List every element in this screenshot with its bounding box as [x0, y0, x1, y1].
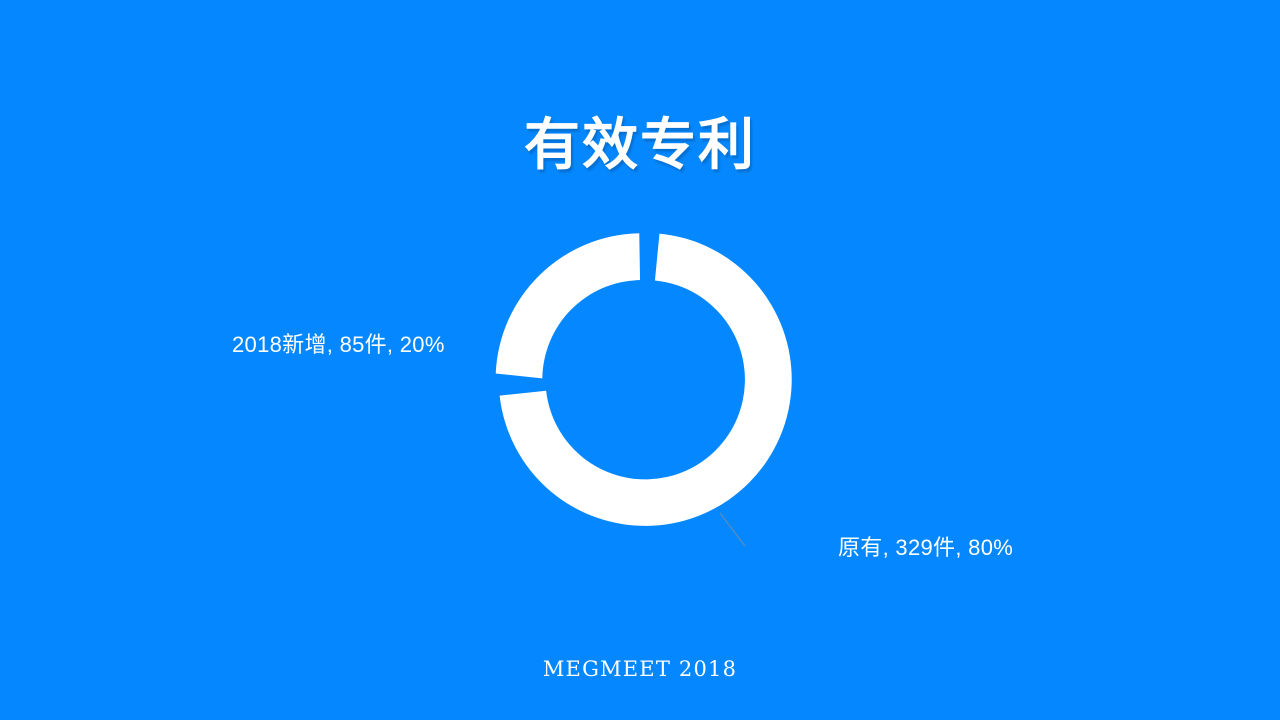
pie-label-new-2018: 2018新增, 85件, 20% — [232, 331, 445, 359]
doughnut-chart-svg — [445, 180, 845, 580]
slide-footer: MEGMEET 2018 — [0, 655, 1280, 683]
doughnut-chart — [445, 180, 845, 580]
leader-line-existing — [720, 513, 745, 546]
slide-canvas: 有效专利 2018新增, 85件, 20% 原有, 329件, 80% MEGM… — [0, 0, 1280, 720]
pie-label-existing: 原有, 329件, 80% — [838, 534, 1013, 562]
page-title: 有效专利 — [0, 112, 1280, 178]
pie-slice-new-2018[interactable] — [496, 233, 640, 378]
